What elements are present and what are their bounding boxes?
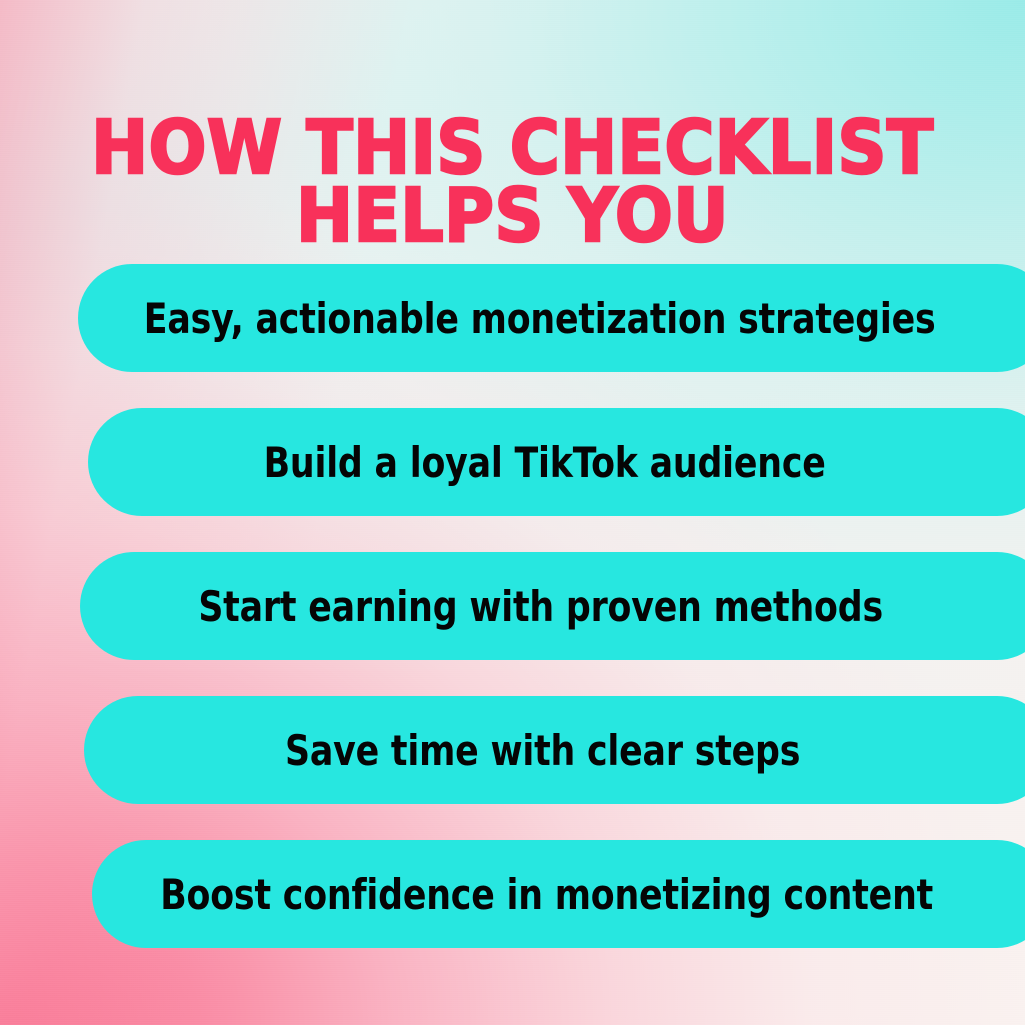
checklist-benefits-poster: HOW THIS CHECKLIST HELPS YOU Easy, actio…: [0, 0, 1025, 1025]
page-title-line-2: HELPS YOU: [0, 182, 1025, 251]
list-item[interactable]: Start earning with proven methods: [80, 552, 1025, 660]
page-title: HOW THIS CHECKLIST HELPS YOU: [0, 114, 1025, 252]
poster-content: HOW THIS CHECKLIST HELPS YOU Easy, actio…: [0, 0, 1025, 1025]
list-item[interactable]: Boost confidence in monetizing content: [92, 840, 1025, 948]
list-item[interactable]: Save time with clear steps: [84, 696, 1025, 804]
list-item[interactable]: Build a loyal TikTok audience: [88, 408, 1025, 516]
list-item[interactable]: Easy, actionable monetization strategies: [78, 264, 1025, 372]
benefit-label: Build a loyal TikTok audience: [127, 438, 1013, 487]
benefit-label: Boost confidence in monetizing content: [130, 870, 1012, 919]
page-title-line-1: HOW THIS CHECKLIST: [0, 114, 1025, 183]
benefit-label: Easy, actionable monetization strategies: [117, 294, 1012, 343]
benefit-label: Start earning with proven methods: [119, 582, 1012, 631]
benefit-label: Save time with clear steps: [123, 726, 1013, 775]
